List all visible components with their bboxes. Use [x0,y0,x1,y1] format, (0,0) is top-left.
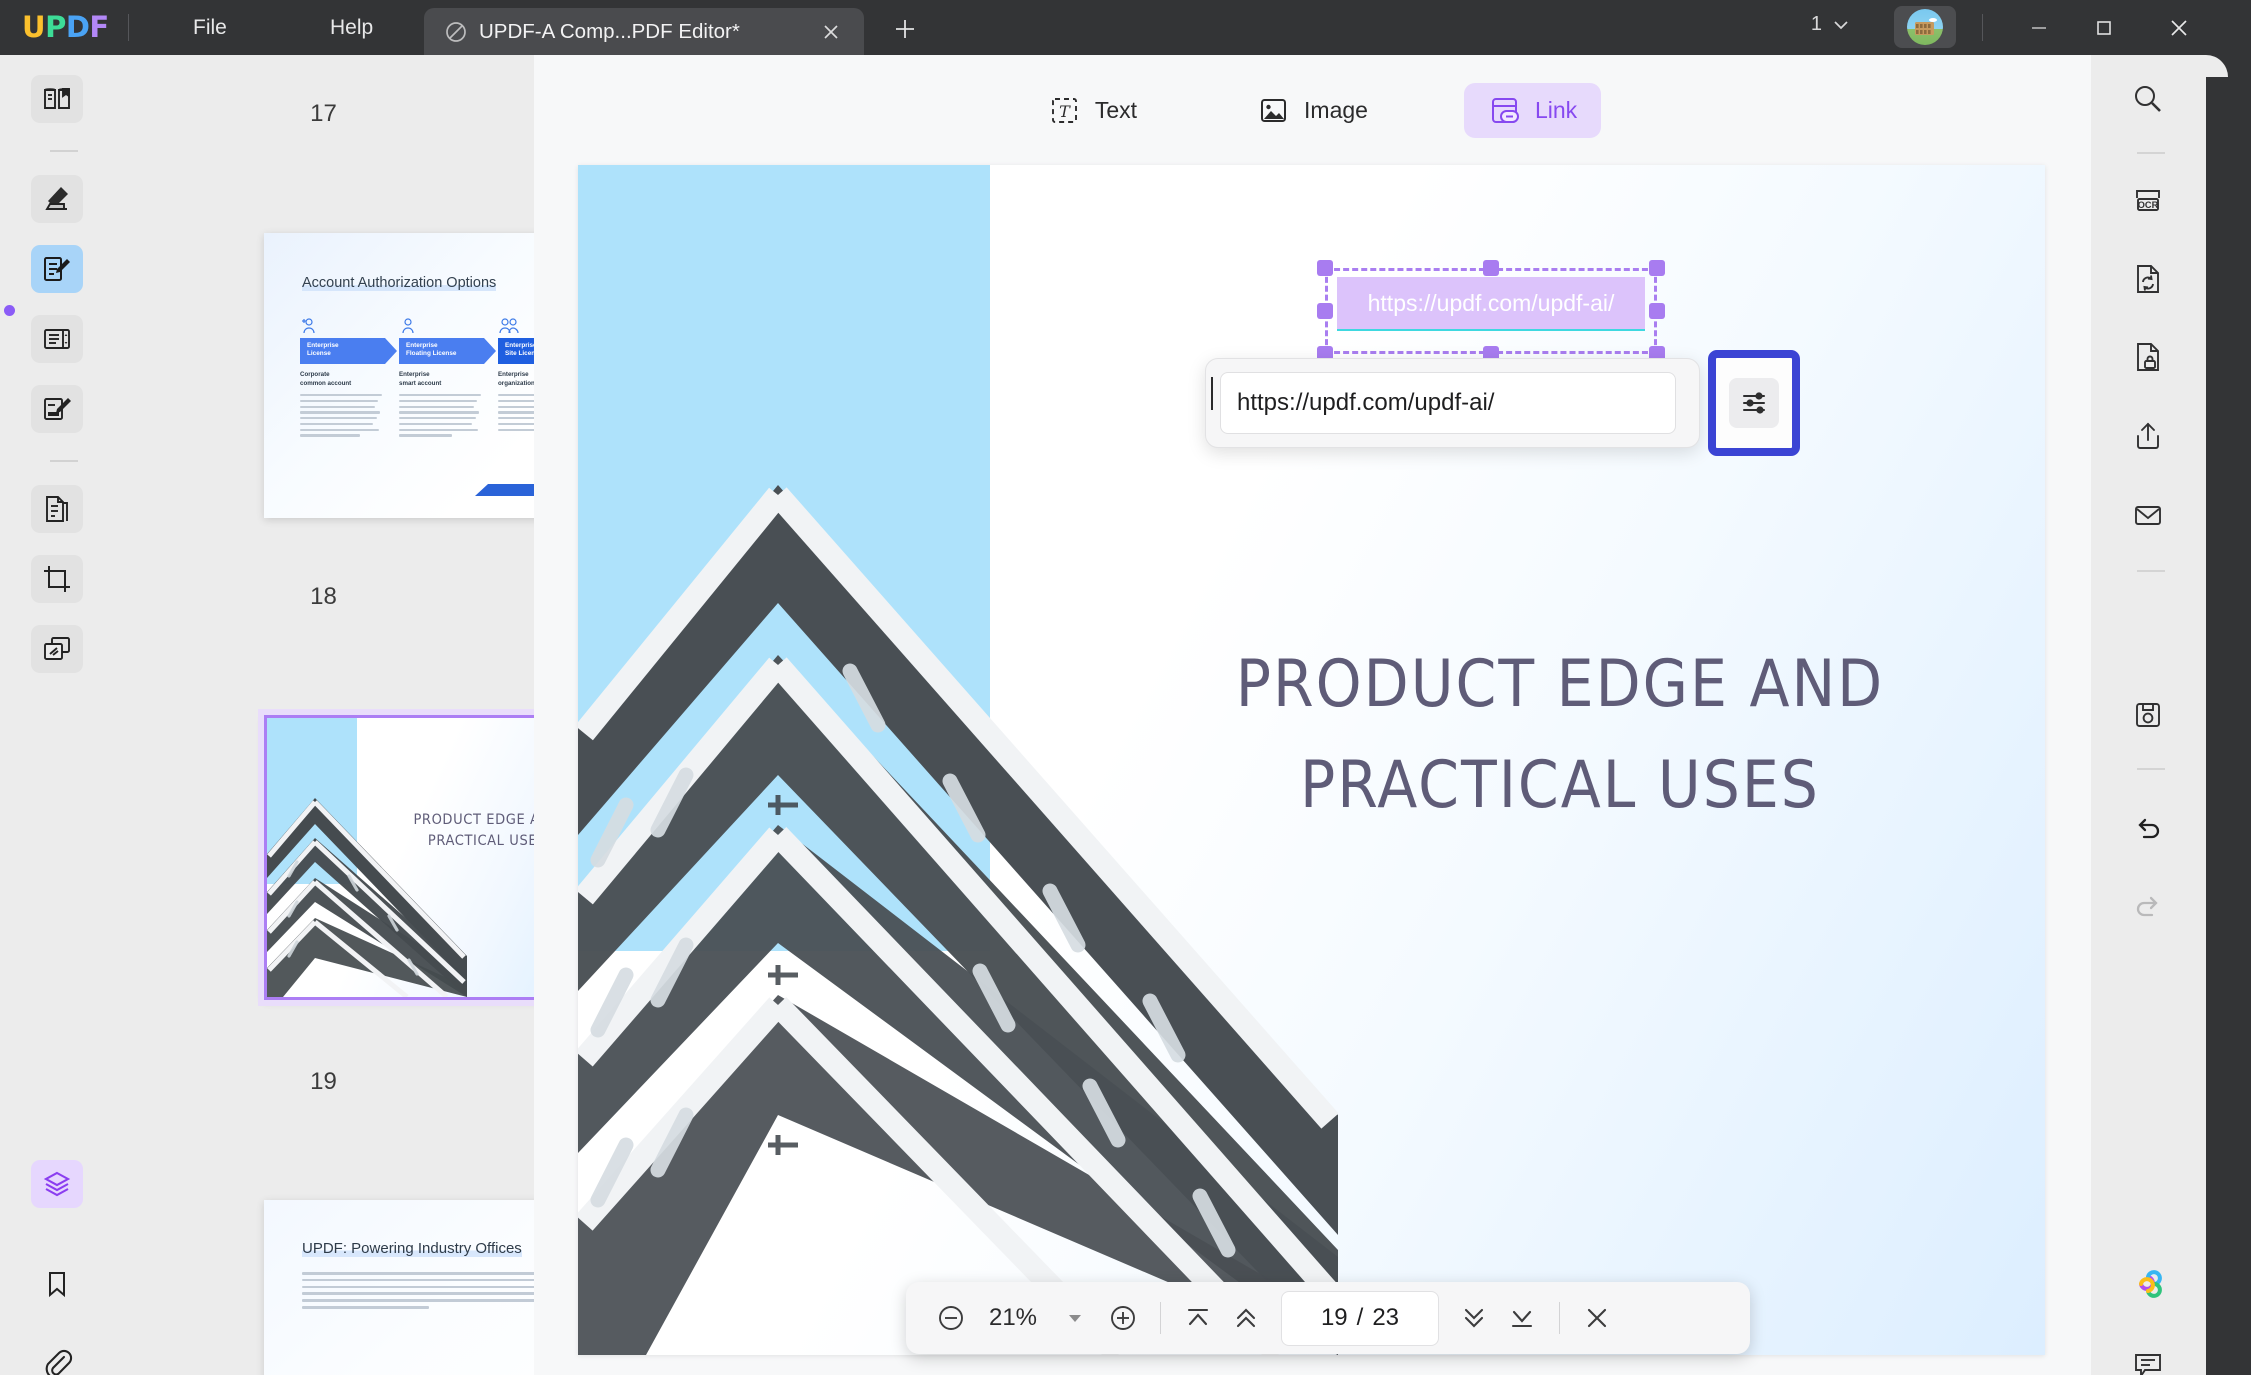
zoom-in-button[interactable] [1100,1295,1146,1341]
next-page-button[interactable] [1451,1295,1497,1341]
svg-text:T: T [1059,102,1071,121]
right-rail-divider-3 [2137,768,2165,770]
tool-image-label: Image [1304,97,1368,124]
email-button[interactable] [2122,491,2174,539]
toolbar-divider-1 [1160,1302,1161,1334]
titlebar-divider [128,14,129,41]
thumbnail-17-chevron-1: Enterprise License [300,338,385,364]
document-tab-title: UPDF-A Comp...PDF Editor* [479,20,740,44]
people-group-icon [498,317,534,335]
thumbnail-page-number: 18 [113,583,534,611]
menu-file[interactable]: File [183,13,237,43]
thumbnail-17-body-1 [300,394,385,437]
first-page-button[interactable] [1175,1295,1221,1341]
svg-text:OCR: OCR [2138,200,2159,210]
page-title-line1: PRODUCT EDGE AND [1236,647,1884,722]
ai-clover-icon [2130,1266,2166,1302]
close-icon [1581,1302,1613,1334]
tool-link-label: Link [1535,97,1577,124]
layers-icon [41,1168,73,1200]
thumbnail-17-subtitle-1: Corporate common account [300,371,385,389]
sidebar-item-edit-pdf[interactable] [31,245,83,293]
sidebar-item-convert[interactable] [31,485,83,533]
undo-button[interactable] [2122,805,2174,853]
convert-button[interactable] [2122,255,2174,303]
document-pages-icon [41,493,73,525]
form-fill-icon [41,393,73,425]
thumbnail-page-number: 17 [113,100,534,128]
sidebar-item-layers[interactable] [31,1160,83,1208]
link-settings-highlight [1708,350,1800,456]
thumbnail-17-cards: Enterprise License Corporate common acco… [300,317,534,440]
last-page-icon [1506,1302,1538,1334]
close-window-button[interactable] [2157,10,2201,46]
thumbnail-19-paragraph [302,1272,534,1313]
crop-icon [41,563,73,595]
page-building-photo [578,475,1338,1355]
avatar[interactable] [1894,6,1956,48]
rail-divider-2 [50,460,78,462]
thumbnail-19-title: UPDF: Powering Industry Offices [302,1240,522,1257]
link-url-popup[interactable]: https://updf.com/updf-ai/ [1205,358,1700,448]
resize-handle-w[interactable] [1317,303,1333,319]
toolbar-divider-2 [1559,1302,1560,1334]
edit-document-icon [41,253,73,285]
plus-circle-icon [1105,1300,1141,1336]
thumbnail-17-body-2 [399,394,484,437]
right-rail-divider-2 [2137,570,2165,572]
right-sidebar: OCR [2091,55,2251,1375]
tool-image[interactable]: Image [1233,83,1392,138]
current-page-value: 19 [1321,1304,1348,1332]
close-icon[interactable] [820,21,842,43]
logo-letter-p: P [45,10,66,44]
protect-button[interactable] [2122,333,2174,381]
close-toolbar-button[interactable] [1574,1295,1620,1341]
page-thumbnail-panel[interactable]: 17 Account Authorization Options Enterpr… [113,55,534,1375]
link-selection-box[interactable]: https://updf.com/updf-ai/ [1325,268,1657,354]
book-reader-icon [41,83,73,115]
window-count-value: 1 [1811,13,1822,36]
logo-letter-u: U [22,10,45,44]
thumbnail-17-chevron-3: Enterprise Site License [498,338,534,364]
rail-divider-1 [50,150,78,152]
resize-handle-nw[interactable] [1317,260,1333,276]
link-settings-button[interactable] [1729,378,1779,428]
left-sidebar [0,55,113,1375]
thumbnail-17-title: Account Authorization Options [302,275,496,291]
pages-arrange-icon [41,323,73,355]
sliders-icon [1738,387,1770,419]
save-button[interactable] [2122,691,2174,739]
zoom-out-button[interactable] [928,1295,974,1341]
thumbnail-page-number: 19 [113,1068,534,1096]
resize-handle-n[interactable] [1483,260,1499,276]
resize-handle-ne[interactable] [1649,260,1665,276]
sidebar-item-form[interactable] [31,385,83,433]
prev-page-icon [1230,1302,1262,1334]
maximize-button[interactable] [2082,10,2126,46]
window-count[interactable]: 1 [1811,13,1851,36]
search-button[interactable] [2122,75,2174,123]
thumbnail-page-19[interactable]: UPDF: Powering Industry Offices Manufact… [264,1200,534,1375]
sidebar-item-bookmark[interactable] [31,1260,83,1308]
thumbnail-17-subtitle-3: Enterprise organization account [498,371,534,389]
bookmark-icon [42,1269,72,1299]
envelope-icon [2131,498,2165,532]
person-icon [399,317,484,335]
thumbnail-17-footer-bar [475,484,534,496]
ocr-icon: OCR [2131,184,2165,218]
floppy-save-icon [2131,698,2165,732]
page-title-line2: PRACTICAL USES [1130,736,1990,837]
sidebar-item-attachment[interactable] [31,1340,83,1375]
tool-link[interactable]: Link [1464,83,1601,138]
logo-letter-f: F [89,10,108,44]
share-upload-icon [2131,419,2165,453]
image-icon [1257,94,1290,127]
convert-document-icon [2131,262,2165,296]
zoom-dropdown-button[interactable] [1052,1295,1098,1341]
stacked-pages-icon [41,633,73,665]
highlighter-icon [41,183,73,215]
thumbnail-17-chevron-2: Enterprise Floating License [399,338,484,364]
thumbnail-18-title: PRODUCT EDGE AND PRACTICAL USES [387,810,534,852]
tool-text[interactable]: T Text [1024,83,1161,138]
minus-circle-icon [933,1300,969,1336]
link-card-icon [1488,94,1521,127]
page-separator: / [1357,1304,1364,1332]
person-add-icon [300,317,385,335]
list-item: Enterprise License Corporate common acco… [300,317,385,440]
link-underline [1337,329,1645,331]
tool-text-label: Text [1095,97,1137,124]
zoom-level-value[interactable]: 21% [976,1304,1050,1332]
undo-icon [2131,812,2165,846]
redo-button[interactable] [2122,883,2174,931]
sidebar-item-compress[interactable] [31,625,83,673]
pdf-page-canvas[interactable]: PRODUCT EDGE AND PRACTICAL USES [578,165,2045,1355]
document-tab[interactable]: UPDF-A Comp...PDF Editor* [424,8,864,55]
sidebar-item-page-organize[interactable] [31,315,83,363]
resize-handle-e[interactable] [1649,303,1665,319]
plus-icon[interactable] [890,14,920,44]
ai-assistant-button[interactable] [2122,1260,2174,1308]
list-item: Enterprise Site License Enterprise organ… [498,317,534,440]
minimize-button[interactable] [2017,10,2061,46]
updf-logo: UPDF [22,10,109,44]
list-item: Enterprise Floating License Enterprise s… [399,317,484,440]
logo-letter-d: D [66,10,90,44]
page-navigation-toolbar[interactable]: 21% [906,1282,1750,1354]
sidebar-item-comment[interactable] [31,175,83,223]
thumbnail-page-17[interactable]: Account Authorization Options Enterprise… [264,233,534,518]
page-number-input[interactable]: 19 / 23 [1281,1291,1439,1346]
window-right-edge [2206,55,2251,1375]
first-page-icon [1182,1302,1214,1334]
titlebar-divider-2 [1982,14,1983,41]
redo-icon [2131,890,2165,924]
right-rail-divider-1 [2137,152,2165,154]
active-tool-marker [4,305,15,316]
text-caret [1211,377,1213,410]
link-highlight[interactable]: https://updf.com/updf-ai/ [1337,277,1645,329]
user-avatar-colosseum [1907,9,1943,45]
page-title: PRODUCT EDGE AND PRACTICAL USES [1130,635,1990,837]
search-icon [2131,82,2165,116]
text-box-icon: T [1048,94,1081,127]
ocr-button[interactable]: OCR [2122,177,2174,225]
chevron-down-icon [1831,15,1851,35]
thumbnail-17-body-3 [498,394,534,431]
sidebar-item-reader[interactable] [31,75,83,123]
pdf-doc-icon [444,20,468,44]
caret-down-icon [1066,1309,1084,1327]
menu-help[interactable]: Help [320,13,383,43]
next-page-icon [1458,1302,1490,1334]
link-url-input[interactable]: https://updf.com/updf-ai/ [1220,372,1676,434]
sidebar-item-crop[interactable] [31,555,83,603]
thumbnail-17-subtitle-2: Enterprise smart account [399,371,484,389]
paperclip-icon [41,1348,73,1375]
last-page-button[interactable] [1499,1295,1545,1341]
share-button[interactable] [2122,412,2174,460]
document-lock-icon [2131,340,2165,374]
title-bar: UPDF File Help UPDF-A Comp...PDF Editor* [0,0,2251,55]
comment-panel-button[interactable] [2122,1340,2174,1375]
comment-bubble-icon [2131,1347,2165,1375]
thumbnail-page-18[interactable]: PRODUCT EDGE AND PRACTICAL USES [264,715,534,1000]
total-pages-value: 23 [1372,1304,1399,1332]
prev-page-button[interactable] [1223,1295,1269,1341]
link-display-text: https://updf.com/updf-ai/ [1368,290,1615,317]
edit-tool-strip: T Text Image [534,78,2091,142]
